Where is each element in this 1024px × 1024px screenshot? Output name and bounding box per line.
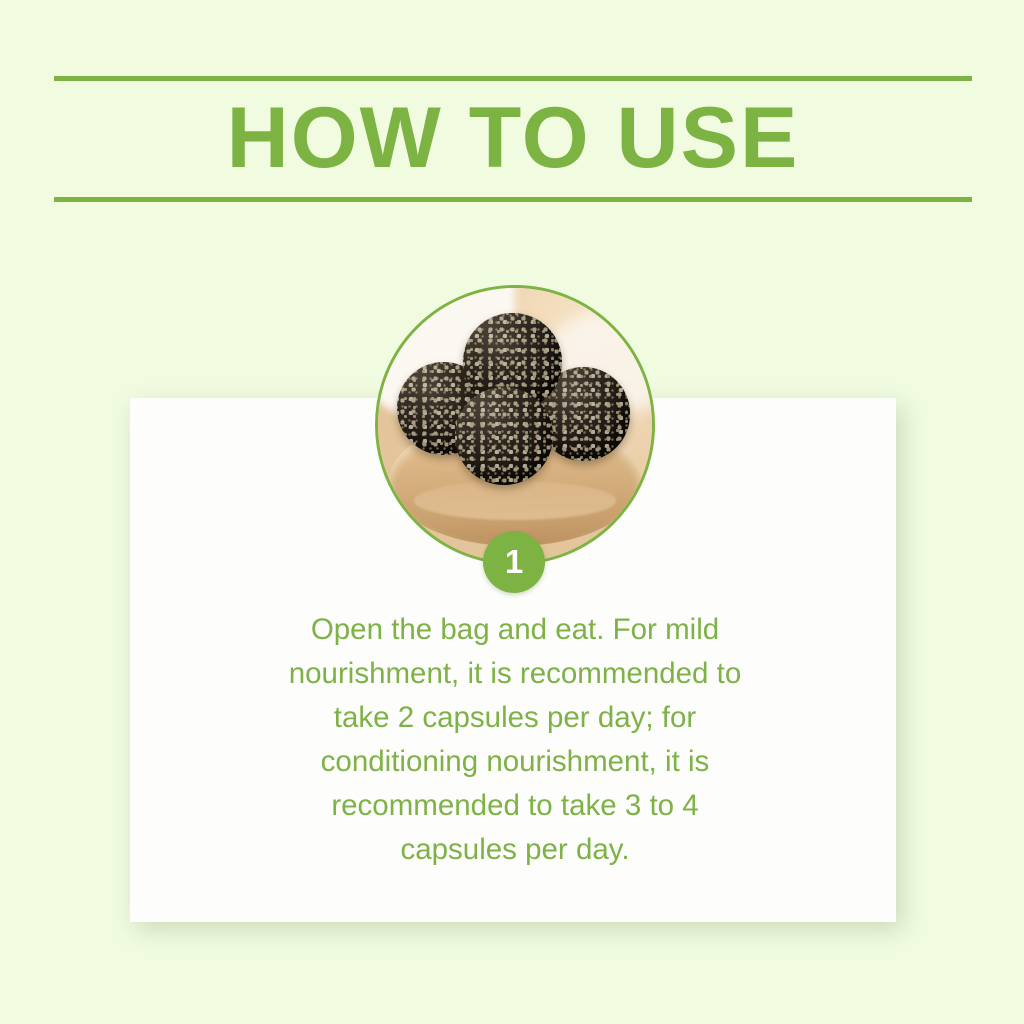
title-rule-bottom bbox=[54, 197, 972, 202]
page-title: HOW TO USE bbox=[54, 81, 972, 197]
step-number-badge: 1 bbox=[483, 531, 545, 593]
product-photo bbox=[375, 285, 655, 565]
photo-bowl-contents bbox=[375, 285, 413, 301]
wooden-plate-rim bbox=[414, 481, 616, 520]
step-description: Open the bag and eat. For mild nourishme… bbox=[280, 608, 750, 872]
sesame-ball bbox=[455, 387, 554, 486]
product-photo-scene bbox=[378, 288, 652, 562]
heading-block: HOW TO USE bbox=[54, 76, 972, 202]
